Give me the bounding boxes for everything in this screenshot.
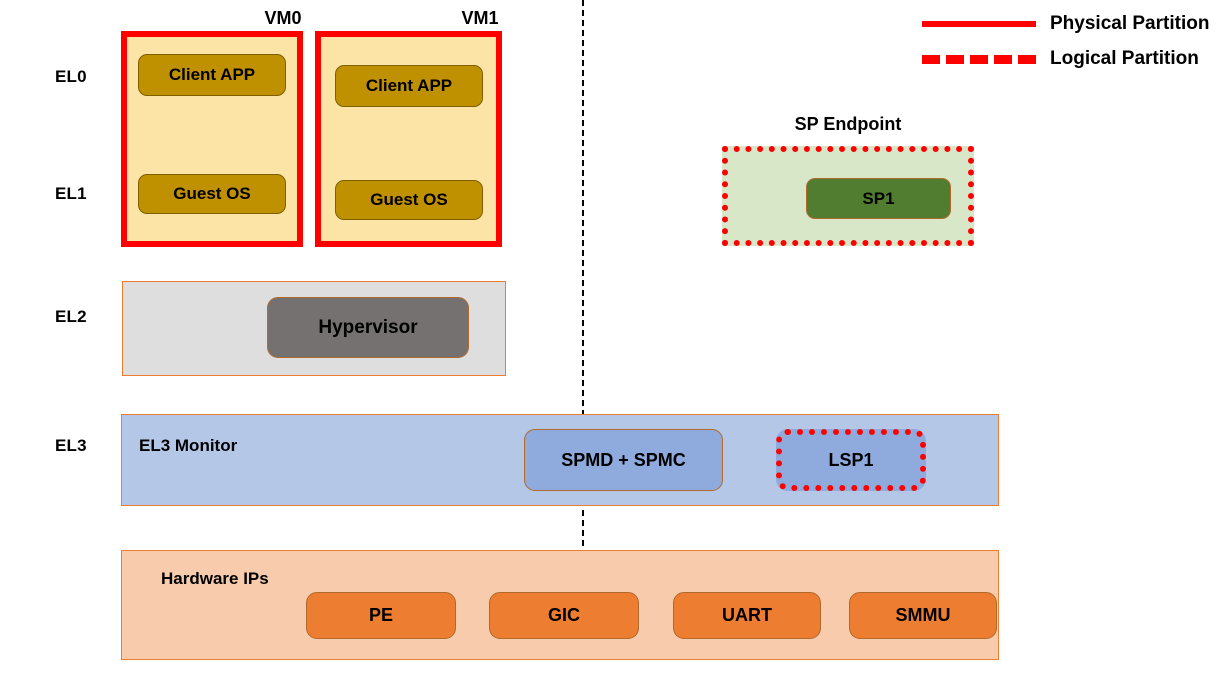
hw-chip-uart[interactable]: UART: [673, 592, 821, 639]
legend-item-logical: Logical Partition: [922, 45, 1209, 73]
spmd-spmc-chip[interactable]: SPMD + SPMC: [524, 429, 723, 491]
level-label-el1: EL1: [55, 184, 87, 204]
vm1-partition[interactable]: Client APP Guest OS: [315, 31, 502, 247]
legend-label-logical: Logical Partition: [1050, 48, 1199, 70]
legend-item-physical: Physical Partition: [922, 10, 1209, 38]
vm0-client-app[interactable]: Client APP: [138, 54, 286, 96]
sp-endpoint-partition[interactable]: SP1: [722, 146, 974, 246]
solid-line-icon: [922, 21, 1036, 27]
vm1-client-app[interactable]: Client APP: [335, 65, 483, 107]
hw-chip-smmu[interactable]: SMMU: [849, 592, 997, 639]
hw-chip-gic[interactable]: GIC: [489, 592, 639, 639]
vm1-title: VM1: [410, 8, 550, 29]
lsp1-chip[interactable]: LSP1: [776, 429, 926, 491]
diagram-canvas: Physical Partition Logical Partition EL0…: [0, 0, 1220, 696]
legend: Physical Partition Logical Partition: [922, 10, 1209, 73]
dashed-line-icon: [922, 55, 1036, 64]
el3-monitor-label: EL3 Monitor: [139, 436, 237, 456]
hw-chip-pe[interactable]: PE: [306, 592, 456, 639]
legend-label-physical: Physical Partition: [1050, 13, 1209, 35]
el2-band: Hypervisor: [122, 281, 506, 376]
el3-band: EL3 Monitor SPMD + SPMC LSP1: [121, 414, 999, 506]
sp1-chip[interactable]: SP1: [806, 178, 951, 219]
level-label-el0: EL0: [55, 67, 87, 87]
hardware-ips-label: Hardware IPs: [161, 569, 269, 589]
level-label-el2: EL2: [55, 307, 87, 327]
vm0-guest-os[interactable]: Guest OS: [138, 174, 286, 214]
vm0-partition[interactable]: Client APP Guest OS: [121, 31, 303, 247]
vm1-guest-os[interactable]: Guest OS: [335, 180, 483, 220]
hardware-band: Hardware IPs PE GIC UART SMMU: [121, 550, 999, 660]
hypervisor-chip[interactable]: Hypervisor: [267, 297, 469, 358]
level-label-el3: EL3: [55, 436, 87, 456]
vm0-title: VM0: [213, 8, 353, 29]
sp-endpoint-title: SP Endpoint: [722, 114, 974, 135]
